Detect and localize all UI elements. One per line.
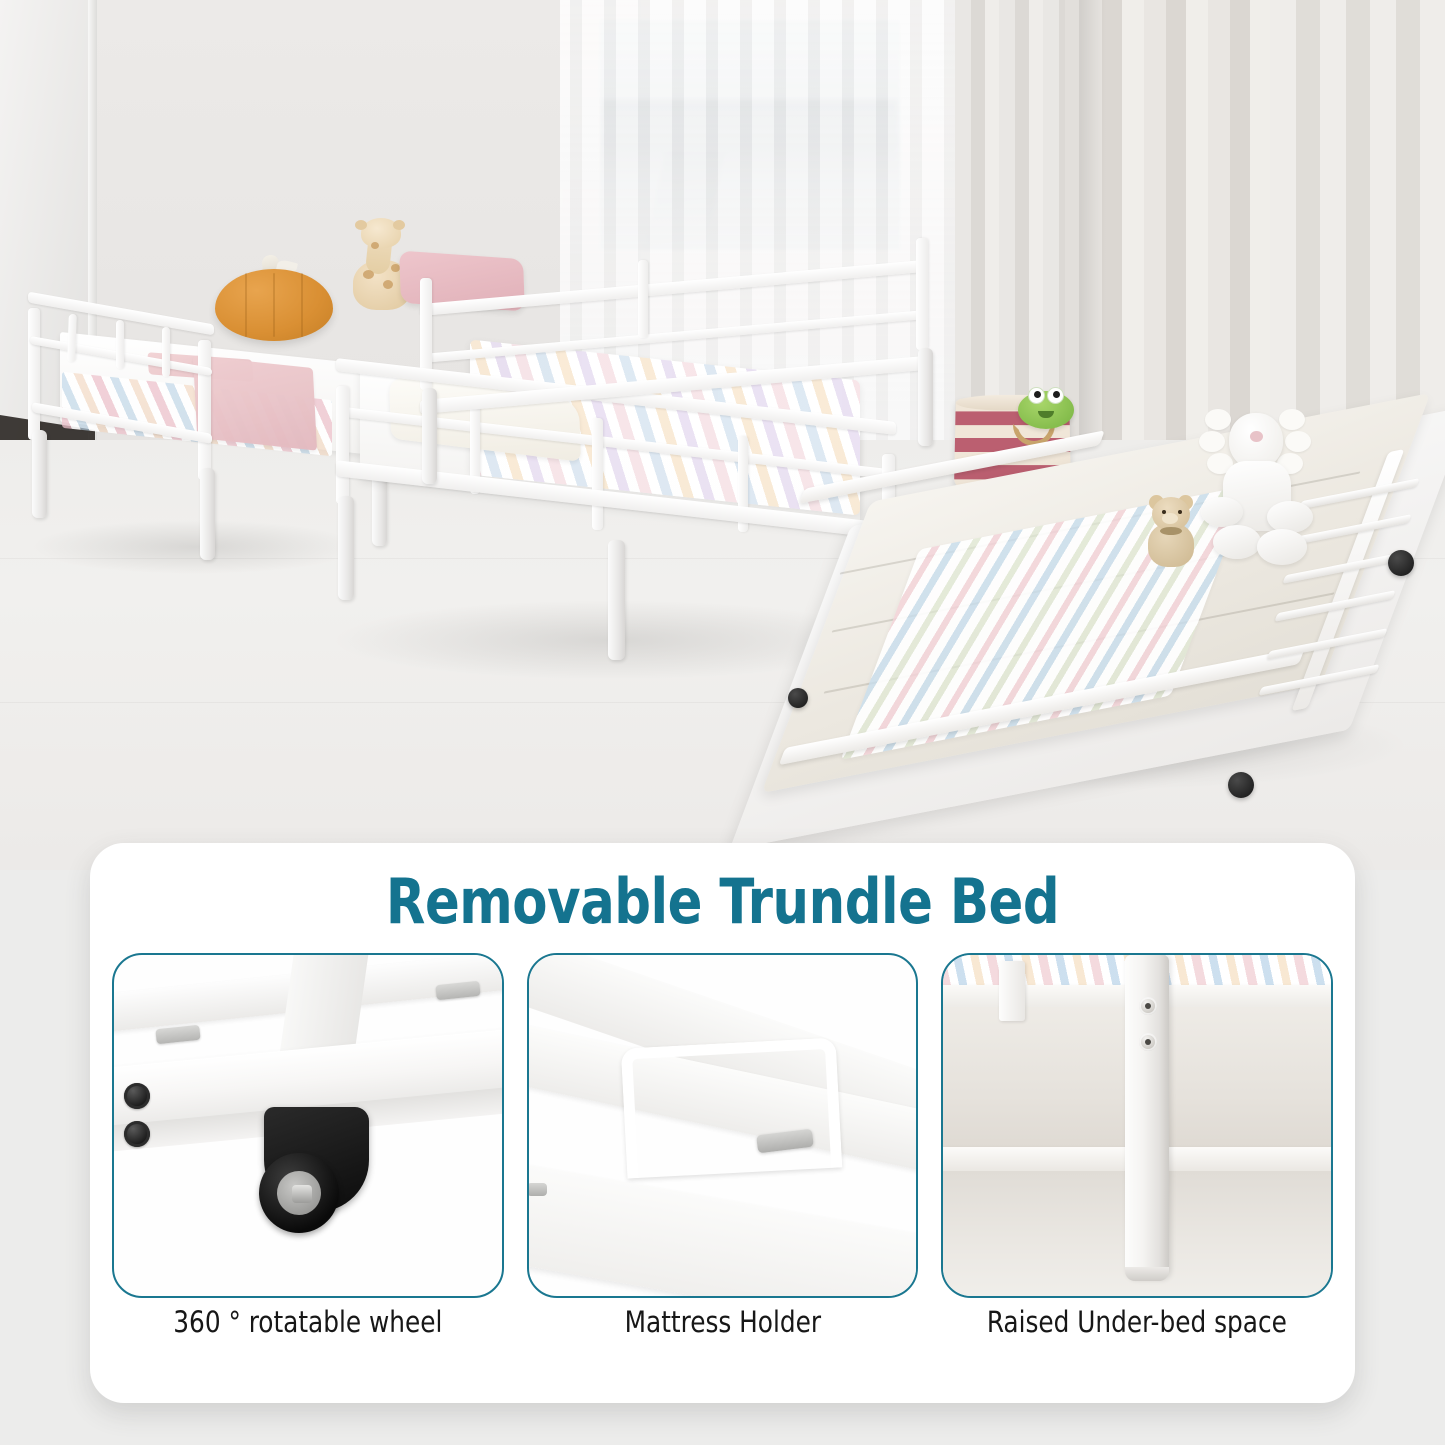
caption-wheel: 360 ° rotatable wheel (122, 1305, 494, 1391)
left-bed-spindle-1 (67, 314, 77, 362)
panel-mattress-holder[interactable] (527, 953, 919, 1298)
flower-plush-nose (1250, 431, 1263, 442)
teddy-bear-plush (1140, 495, 1202, 567)
main-bed-back-mid-rail (424, 310, 924, 363)
holder-clip-left-icon (527, 1183, 547, 1196)
main-bed-leg-front-left (338, 496, 354, 600)
bolt-lower-icon (124, 1121, 150, 1147)
main-bed-back-spindle-1 (638, 260, 648, 338)
left-bed-leg-front (32, 430, 47, 518)
left-bed-spindle-2 (116, 320, 124, 369)
main-bed-front-post-mid (592, 418, 603, 530)
main-bed-back-top-rail (420, 260, 925, 316)
panel-wheel[interactable] (112, 953, 504, 1298)
caption-under-bed: Raised Under-bed space (951, 1305, 1323, 1391)
trundle-caster-front (1228, 772, 1254, 798)
feature-card: Removable Trundle Bed (90, 843, 1355, 1403)
feature-captions: 360 ° rotatable wheel Mattress Holder Ra… (112, 1305, 1333, 1391)
teddy-snout (1162, 513, 1178, 524)
left-bed-spindle-3 (162, 327, 170, 377)
main-bed-front-post-left (336, 386, 349, 504)
trundle-caster-left (788, 688, 808, 708)
pumpkin-plush (215, 255, 333, 341)
main-bed-back-post-right (916, 238, 928, 350)
feature-panels (112, 953, 1333, 1298)
room-scene-photo (0, 0, 1445, 870)
main-bed-leg-back-left (422, 388, 437, 484)
flower-ear-plush (1195, 405, 1315, 570)
mattress-holder-bracket (620, 1037, 842, 1178)
left-bed-leg-mid (200, 468, 215, 560)
trundle-bed (780, 430, 1440, 820)
bed-leg-cap (1125, 1267, 1169, 1281)
slat-bracket (999, 961, 1025, 1021)
card-title: Removable Trundle Bed (141, 865, 1305, 938)
monster-body (1018, 391, 1074, 429)
mattress-clip-right-icon (435, 981, 480, 1001)
trundle-caster-back (1388, 550, 1414, 576)
mattress-clip-left-icon (155, 1025, 200, 1045)
bolt-upper-icon (124, 1083, 150, 1109)
teddy-bow (1160, 527, 1182, 535)
green-monster-plush (1018, 385, 1074, 429)
panel-under-bed-space[interactable] (941, 953, 1333, 1298)
left-bed-post-b (198, 340, 211, 480)
left-bed-post-a (28, 308, 40, 440)
main-bed-leg-front-mid (608, 540, 625, 660)
caster-wheel-icon (259, 1153, 339, 1233)
caption-holder: Mattress Holder (536, 1305, 908, 1391)
